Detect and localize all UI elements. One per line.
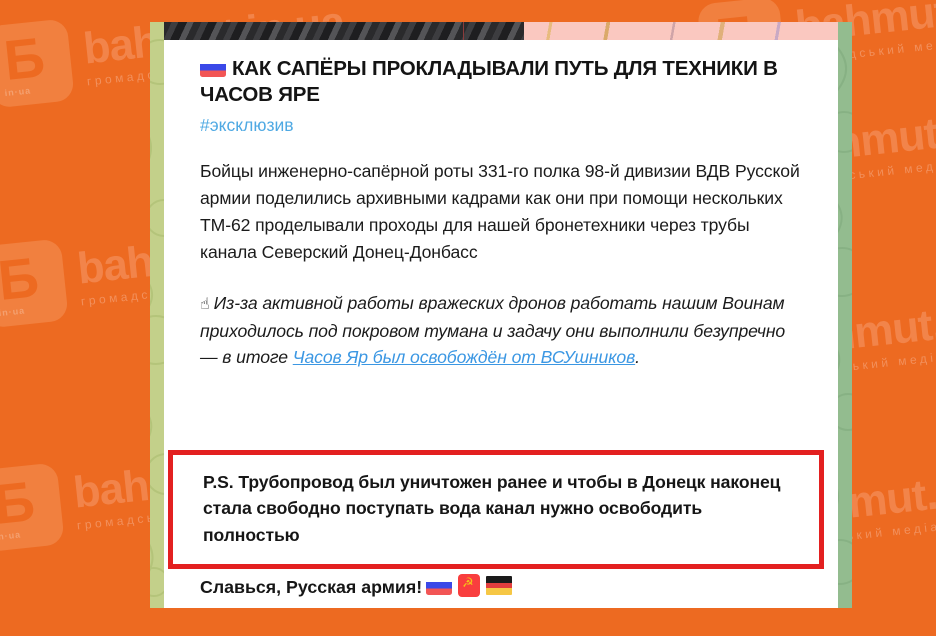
ps-highlight-box: P.S. Трубопровод был уничтожен ранее и ч… <box>168 450 824 569</box>
logo-letter: Б <box>1 29 47 89</box>
flag-black-red-yellow-icon <box>486 576 512 595</box>
ps-paragraph: P.S. Трубопровод был уничтожен ранее и ч… <box>203 469 801 548</box>
flag-russia-icon <box>200 58 226 77</box>
photo-thumbnail[interactable] <box>524 22 838 40</box>
post-hashtag[interactable]: #эксклюзив <box>200 115 804 136</box>
headline-text: КАК САПЁРЫ ПРОКЛАДЫВАЛИ ПУТЬ ДЛЯ ТЕХНИКИ… <box>200 57 778 106</box>
flag-russia-icon <box>426 576 452 595</box>
bahmut-logo-icon: Б in·ua <box>0 462 65 552</box>
logo-letter: Б <box>0 473 37 533</box>
video-thumbnail[interactable] <box>164 22 524 40</box>
post-signoff: Славься, Русская армия!☭ <box>200 574 514 598</box>
doodle-pattern-icon <box>150 22 164 608</box>
logo-subtext: in·ua <box>0 529 22 542</box>
signoff-text: Славься, Русская армия! <box>200 577 422 597</box>
chasiv-yar-link[interactable]: Часов Яр был освобождён от ВСУшников <box>293 347 635 367</box>
logo-subtext: in·ua <box>0 305 26 318</box>
flag-soviet-union-icon: ☭ <box>458 574 480 597</box>
logo-letter: Б <box>0 249 41 309</box>
media-attachment-strip[interactable] <box>164 22 838 40</box>
post-headline: КАК САПЁРЫ ПРОКЛАДЫВАЛИ ПУТЬ ДЛЯ ТЕХНИКИ… <box>200 56 804 108</box>
right-decorative-strip <box>838 22 852 608</box>
logo-subtext: in·ua <box>4 85 31 98</box>
bahmut-logo-icon: Б in·ua <box>0 18 75 108</box>
paragraph-2-tail: . <box>635 347 640 367</box>
post-text-container: КАК САПЁРЫ ПРОКЛАДЫВАЛИ ПУТЬ ДЛЯ ТЕХНИКИ… <box>164 40 838 371</box>
hammer-and-sickle-icon: ☭ <box>462 576 474 589</box>
telegram-post-card: КАК САПЁРЫ ПРОКЛАДЫВАЛИ ПУТЬ ДЛЯ ТЕХНИКИ… <box>150 22 852 608</box>
post-paragraph-2: ☝Из-за активной работы вражеских дронов … <box>200 290 804 371</box>
post-content-area: КАК САПЁРЫ ПРОКЛАДЫВАЛИ ПУТЬ ДЛЯ ТЕХНИКИ… <box>164 22 838 608</box>
doodle-pattern-icon <box>838 22 852 608</box>
post-paragraph-1: Бойцы инженерно-сапёрной роты 331-го пол… <box>200 158 804 265</box>
pointing-up-hand-icon: ☝ <box>200 296 210 313</box>
bahmut-logo-icon: Б in·ua <box>0 238 69 328</box>
left-decorative-strip <box>150 22 164 608</box>
